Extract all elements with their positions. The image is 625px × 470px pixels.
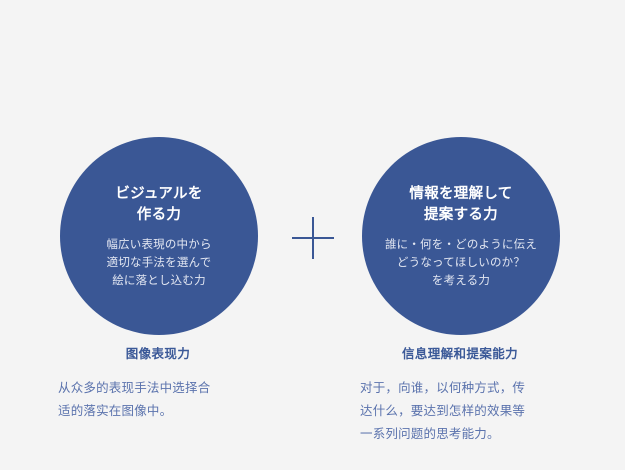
concept-circle-title-proposal: 情報を理解して 提案する力 [409, 184, 512, 226]
plus-icon-vertical-bar [312, 217, 314, 259]
caption-body-visual: 从众多的表现手法中选择合 适的落实在图像中。 [58, 376, 258, 422]
concept-circle-body-visual: 幅広い表現の中から 適切な手法を選んで 絵に落とし込む力 [106, 235, 211, 289]
caption-block-visual: 图像表现力 从众多的表现手法中选择合 适的落实在图像中。 [58, 345, 258, 422]
concept-circle-body-proposal: 誰に・何を・どのように伝え どうなってほしいのか？ を考える力 [385, 235, 537, 289]
plus-icon [292, 217, 334, 259]
caption-title-visual: 图像表现力 [58, 345, 258, 363]
caption-title-proposal: 信息理解和提案能力 [360, 345, 560, 363]
caption-block-proposal: 信息理解和提案能力 对于，向谁，以何种方式，传 达什么，要达到怎样的效果等 一系… [360, 345, 560, 445]
concept-circle-title-visual: ビジュアルを 作る力 [115, 184, 202, 226]
caption-body-proposal: 对于，向谁，以何种方式，传 达什么，要达到怎样的效果等 一系列问题的思考能力。 [360, 376, 560, 445]
concept-circle-proposal: 情報を理解して 提案する力 誰に・何を・どのように伝え どうなってほしいのか？ … [362, 137, 560, 335]
infographic-canvas: ビジュアルを 作る力 幅広い表現の中から 適切な手法を選んで 絵に落とし込む力 … [0, 0, 625, 470]
concept-circle-visual: ビジュアルを 作る力 幅広い表現の中から 適切な手法を選んで 絵に落とし込む力 [60, 137, 258, 335]
